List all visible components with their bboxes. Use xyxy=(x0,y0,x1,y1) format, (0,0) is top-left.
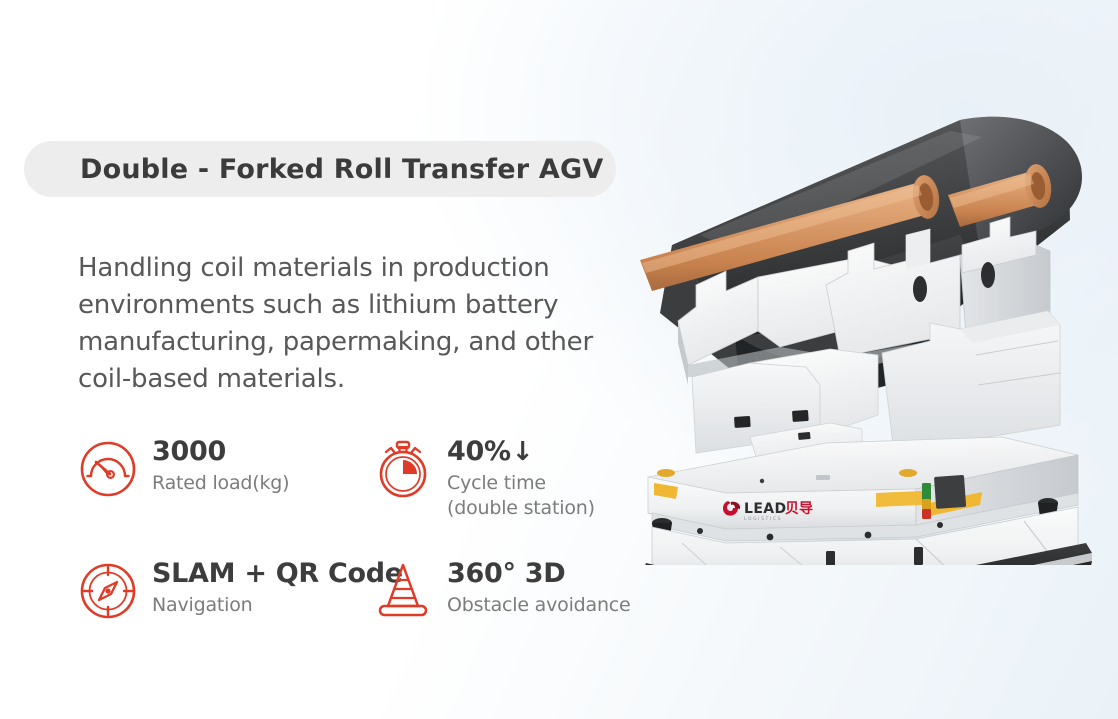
spec-item-navigation: SLAM + QR Code Navigation xyxy=(78,558,373,621)
spec-value: SLAM + QR Code xyxy=(152,559,403,589)
beacon-right xyxy=(899,469,917,477)
svg-text:LEAD: LEAD xyxy=(744,501,787,517)
spec-label: Cycle time xyxy=(447,471,595,496)
spec-body: 40%↓ Cycle time (double station) xyxy=(447,436,595,521)
spec-value: 3000 xyxy=(152,437,289,467)
down-arrow-icon: ↓ xyxy=(512,437,534,467)
traffic-cone-icon xyxy=(373,561,433,621)
compass-icon xyxy=(78,561,138,621)
spec-body: 3000 Rated load(kg) xyxy=(152,436,289,496)
spec-item-obstacle-avoidance: 360° 3D Obstacle avoidance xyxy=(373,558,673,621)
spec-value: 360° 3D xyxy=(447,559,631,589)
sensor-a xyxy=(697,528,703,534)
gauge-icon xyxy=(78,439,138,499)
side-port-a xyxy=(826,551,835,565)
spec-label: Obstacle avoidance xyxy=(447,593,631,618)
display-panel xyxy=(934,475,966,509)
marker-front-right xyxy=(876,491,922,507)
side-port-b xyxy=(914,547,923,565)
page-title: Double - Forked Roll Transfer AGV xyxy=(80,154,603,185)
spec-row-2: SLAM + QR Code Navigation 360° 3D xyxy=(78,558,678,621)
fork-pin-right xyxy=(981,262,995,288)
status-light-tower xyxy=(922,483,931,519)
spec-item-cycle-time: 40%↓ Cycle time (double station) xyxy=(373,436,673,558)
spec-list: 3000 Rated load(kg) xyxy=(78,436,678,621)
spec-label-secondary: (double station) xyxy=(447,496,595,521)
svg-text:LOGISTICS: LOGISTICS xyxy=(744,516,782,522)
slide-canvas: LEAD 贝导 LOGISTICS xyxy=(0,0,1118,719)
svg-text:贝导: 贝导 xyxy=(785,501,813,517)
spec-label: Rated load(kg) xyxy=(152,471,289,496)
fork-pin-left xyxy=(913,276,927,302)
spec-item-rated-load: 3000 Rated load(kg) xyxy=(78,436,373,558)
product-image-agv: LEAD 贝导 LOGISTICS xyxy=(630,85,1118,565)
spec-value-text: 40% xyxy=(447,436,511,467)
product-description: Handling coil materials in production en… xyxy=(78,250,640,398)
spec-body: 360° 3D Obstacle avoidance xyxy=(447,558,631,618)
spec-body: SLAM + QR Code Navigation xyxy=(152,558,403,618)
vent-a xyxy=(734,416,751,428)
spec-label: Navigation xyxy=(152,593,403,618)
sensor-c xyxy=(865,532,872,539)
sensor-d xyxy=(937,522,943,528)
title-pill: Double - Forked Roll Transfer AGV xyxy=(24,141,616,197)
sensor-b xyxy=(767,534,774,541)
spec-value: 40%↓ xyxy=(447,437,595,467)
spec-row-1: 3000 Rated load(kg) xyxy=(78,436,678,558)
stopwatch-icon xyxy=(373,439,433,499)
vent-b xyxy=(792,410,809,422)
